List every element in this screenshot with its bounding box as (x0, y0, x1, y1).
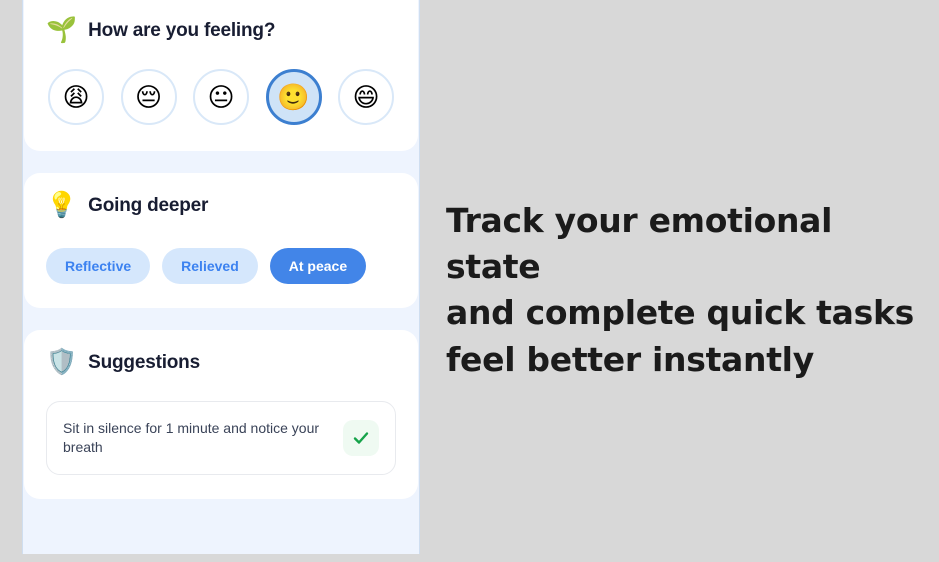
mood-option-row: 😩 😔 😐 🙂 😄 (46, 69, 396, 125)
grinning-face-icon: 😄 (352, 84, 379, 110)
chip-reflective[interactable]: Reflective (46, 248, 150, 284)
weary-face-icon: 😩 (62, 84, 89, 110)
mood-option-neutral[interactable]: 😐 (193, 69, 249, 125)
caption-line-3: feel better instantly (446, 337, 916, 383)
suggestion-list-item[interactable]: Sit in silence for 1 minute and notice y… (46, 401, 396, 475)
suggestions-card: 🛡️ Suggestions Sit in silence for 1 minu… (24, 330, 418, 499)
mood-card-title: How are you feeling? (88, 20, 275, 42)
caption-text: Track your emotional state and complete … (446, 198, 916, 383)
mood-option-pensive[interactable]: 😔 (121, 69, 177, 125)
mood-card: 🌱 How are you feeling? 😩 😔 😐 🙂 😄 (24, 0, 418, 151)
checkmark-icon (351, 428, 371, 448)
going-deeper-title: Going deeper (88, 195, 208, 217)
app-panel: 🌱 How are you feeling? 😩 😔 😐 🙂 😄 (22, 0, 420, 554)
mood-card-header: 🌱 How are you feeling? (46, 18, 396, 43)
pensive-face-icon: 😔 (135, 84, 162, 110)
suggestion-complete-button[interactable] (343, 420, 379, 456)
seedling-icon: 🌱 (46, 18, 77, 43)
mood-option-grinning[interactable]: 😄 (338, 69, 394, 125)
chip-at-peace[interactable]: At peace (270, 248, 366, 284)
suggestions-title: Suggestions (88, 352, 200, 374)
card-separator (23, 308, 419, 330)
lightbulb-icon: 💡 (46, 193, 77, 218)
app-scroll-container[interactable]: 🌱 How are you feeling? 😩 😔 😐 🙂 😄 (23, 0, 419, 554)
suggestions-header: 🛡️ Suggestions (46, 350, 396, 375)
slightly-smiling-face-icon: 🙂 (277, 84, 309, 110)
suggestion-text: Sit in silence for 1 minute and notice y… (63, 419, 329, 457)
chip-relieved[interactable]: Relieved (162, 248, 258, 284)
going-deeper-card: 💡 Going deeper Reflective Relieved At pe… (24, 173, 418, 308)
neutral-face-icon: 😐 (207, 84, 234, 110)
feeling-chip-row: Reflective Relieved At peace (46, 248, 396, 284)
shield-icon: 🛡️ (46, 350, 77, 375)
mood-option-weary[interactable]: 😩 (48, 69, 104, 125)
caption-line-2: and complete quick tasks (446, 290, 916, 336)
caption-line-1: Track your emotional state (446, 198, 916, 290)
card-separator (23, 151, 419, 173)
mood-option-slight-smile[interactable]: 🙂 (266, 69, 322, 125)
going-deeper-header: 💡 Going deeper (46, 193, 396, 218)
